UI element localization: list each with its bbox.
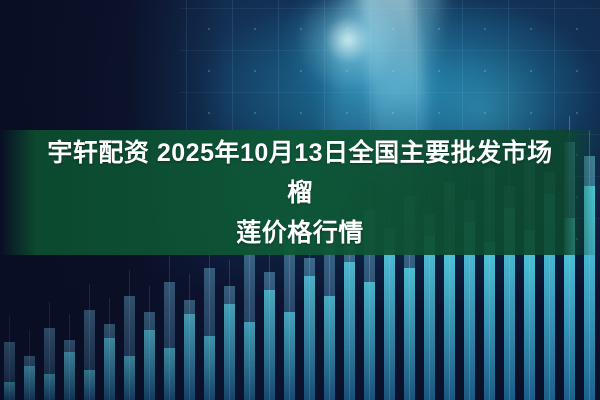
value-bar xyxy=(364,282,376,400)
value-bar xyxy=(344,262,356,400)
value-bar xyxy=(24,366,36,400)
value-bar xyxy=(444,254,456,400)
page-title: 宇轩配资 2025年10月13日全国主要批发市场榴 莲价格行情 xyxy=(40,133,560,253)
value-bar xyxy=(204,336,216,400)
promo-banner-image: 宇轩配资 2025年10月13日全国主要批发市场榴 莲价格行情 xyxy=(0,0,600,400)
value-bar xyxy=(244,322,256,400)
value-bar xyxy=(324,296,336,400)
value-bar xyxy=(4,382,16,400)
value-bar xyxy=(384,250,396,400)
value-bar xyxy=(404,268,416,400)
value-bar xyxy=(124,356,136,400)
value-bar xyxy=(84,370,96,400)
value-bar xyxy=(484,242,496,400)
value-bar xyxy=(264,290,276,400)
value-bar xyxy=(164,348,176,400)
value-bar xyxy=(184,314,196,400)
value-bar xyxy=(424,236,436,400)
page-title-line-1: 宇轩配资 2025年10月13日全国主要批发市场榴 xyxy=(47,139,552,207)
value-bar xyxy=(524,230,536,400)
value-bar xyxy=(144,330,156,400)
value-bar xyxy=(104,338,116,400)
page-title-line-2: 莲价格行情 xyxy=(236,219,364,247)
title-banner: 宇轩配资 2025年10月13日全国主要批发市场榴 莲价格行情 xyxy=(0,130,600,255)
value-bar xyxy=(284,312,296,400)
value-bar xyxy=(44,374,56,400)
value-bar xyxy=(64,352,76,400)
value-bar xyxy=(304,276,316,400)
value-bar xyxy=(224,304,236,400)
